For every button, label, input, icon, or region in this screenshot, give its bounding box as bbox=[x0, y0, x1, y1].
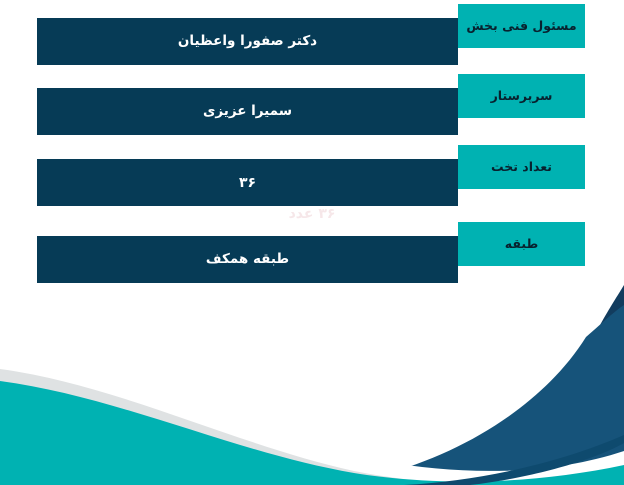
value-text: طبقه همکف bbox=[206, 253, 289, 267]
info-row: سمیرا عزیزی سرپرستار bbox=[0, 70, 624, 136]
label-text: سرپرستار bbox=[491, 90, 553, 103]
value-text: سمیرا عزیزی bbox=[203, 105, 292, 119]
label-chip: مسئول فنی بخش bbox=[458, 4, 585, 48]
label-text: مسئول فنی بخش bbox=[466, 20, 576, 33]
label-chip: تعداد تخت bbox=[458, 145, 585, 189]
info-row: ۳۶ تعداد تخت bbox=[0, 141, 624, 207]
label-text: تعداد تخت bbox=[491, 161, 552, 174]
value-box: ۳۶ bbox=[37, 159, 458, 206]
value-box: سمیرا عزیزی bbox=[37, 88, 458, 135]
label-chip: سرپرستار bbox=[458, 74, 585, 118]
label-chip: طبقه bbox=[458, 222, 585, 266]
wave-svg bbox=[0, 285, 624, 485]
info-row: طبقه همکف طبقه bbox=[0, 218, 624, 284]
value-text: ۳۶ bbox=[239, 176, 256, 190]
value-box: طبقه همکف bbox=[37, 236, 458, 283]
slide-canvas: ۳۶ عدد دکتر صفورا واعظیان مسئول فنی بخش … bbox=[0, 0, 624, 485]
info-row: دکتر صفورا واعظیان مسئول فنی بخش bbox=[0, 0, 624, 66]
value-text: دکتر صفورا واعظیان bbox=[178, 35, 317, 49]
decorative-wave-graphic bbox=[0, 285, 624, 485]
label-text: طبقه bbox=[505, 238, 538, 251]
value-box: دکتر صفورا واعظیان bbox=[37, 18, 458, 65]
